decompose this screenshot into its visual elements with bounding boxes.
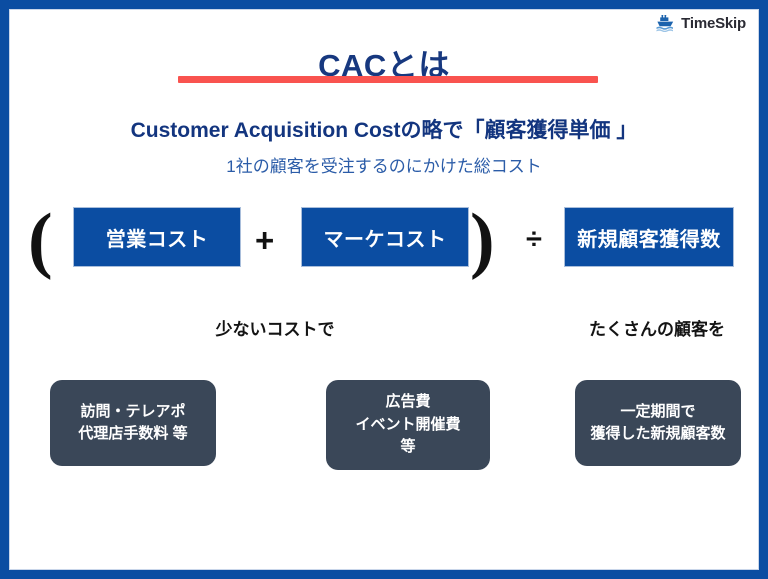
- detail-line: 獲得した新規顧客数: [590, 423, 725, 446]
- formula-term-new-customers: 新規顧客獲得数: [564, 207, 734, 267]
- formula-row: ( 営業コスト + マーケコスト ) ÷ 新規顧客獲得数: [10, 199, 758, 281]
- detail-line: 等: [400, 436, 415, 459]
- operator-divide: ÷: [526, 226, 542, 255]
- operator-plus: +: [255, 224, 274, 257]
- detail-card-new-customers: 一定期間で 獲得した新規顧客数: [575, 380, 741, 466]
- detail-card-sales-cost: 訪問・テレアポ 代理店手数料 等: [50, 380, 216, 466]
- detail-line: 一定期間で: [620, 401, 695, 424]
- title-underline: [178, 76, 598, 83]
- brand-logo: TimeSkip: [656, 15, 746, 32]
- caption-low-cost: 少ないコストで: [216, 315, 335, 340]
- detail-line: イベント開催費: [355, 414, 460, 437]
- detail-line: 広告費: [385, 391, 430, 414]
- formula-term-label: マーケコスト: [324, 223, 447, 252]
- paren-close: ): [470, 203, 495, 277]
- formula-term-label: 営業コスト: [106, 223, 209, 252]
- ship-icon: [656, 15, 676, 32]
- detail-line: 訪問・テレアポ: [80, 401, 185, 424]
- brand-wordmark: TimeSkip: [681, 15, 746, 32]
- detail-card-marketing-cost: 広告費 イベント開催費 等: [326, 380, 490, 470]
- detail-line: 代理店手数料 等: [78, 423, 187, 446]
- subtitle-secondary: 1社の顧客を受注するのにかけた総コスト: [10, 152, 758, 177]
- formula-term-sales-cost: 営業コスト: [73, 207, 241, 267]
- subtitle-primary: Customer Acquisition Costの略で「顧客獲得単価 」: [10, 114, 758, 144]
- paren-open: (: [28, 203, 53, 277]
- slide-page: TimeSkip CACとは Customer Acquisition Cost…: [9, 9, 759, 570]
- slide-frame: TimeSkip CACとは Customer Acquisition Cost…: [0, 0, 768, 579]
- formula-term-marketing-cost: マーケコスト: [301, 207, 469, 267]
- formula-term-label: 新規顧客獲得数: [577, 223, 721, 252]
- caption-many-customers: たくさんの顧客を: [589, 315, 725, 340]
